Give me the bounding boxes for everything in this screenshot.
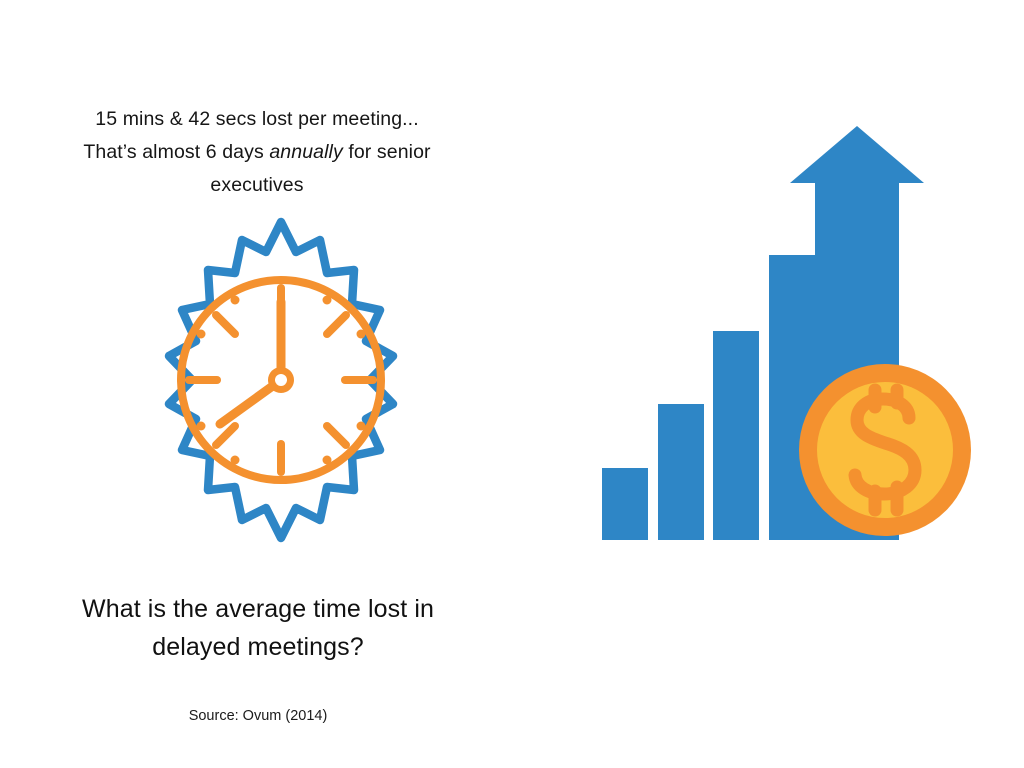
intro-line-2-part2: for senior <box>343 141 431 163</box>
intro-line-2-part1: That’s almost 6 days <box>83 141 269 163</box>
bar-switzerland <box>602 468 648 540</box>
bar-germany <box>713 331 759 540</box>
infographic-slide: 15 mins & 42 secs lost per meeting... Th… <box>0 0 1024 768</box>
chart-bars <box>602 255 815 540</box>
intro-line-1: 15 mins & 42 secs lost per meeting... <box>95 108 418 130</box>
left-source: Source: Ovum (2014) <box>48 708 468 724</box>
bar-extra <box>769 255 815 540</box>
gear-clock-illustration <box>108 212 454 558</box>
left-panel: 15 mins & 42 secs lost per meeting... Th… <box>0 0 512 768</box>
intro-line-3: executives <box>210 174 303 196</box>
intro-text: 15 mins & 42 secs lost per meeting... Th… <box>52 103 462 202</box>
clock-icon <box>181 280 381 480</box>
dollar-coin-icon <box>799 364 971 536</box>
intro-line-2-emphasis: annually <box>269 141 342 163</box>
bar-chart-illustration <box>512 0 1024 768</box>
bar-uk <box>658 404 704 540</box>
left-caption: What is the average time lost in delayed… <box>48 590 468 666</box>
clock-center-hole <box>275 374 287 386</box>
